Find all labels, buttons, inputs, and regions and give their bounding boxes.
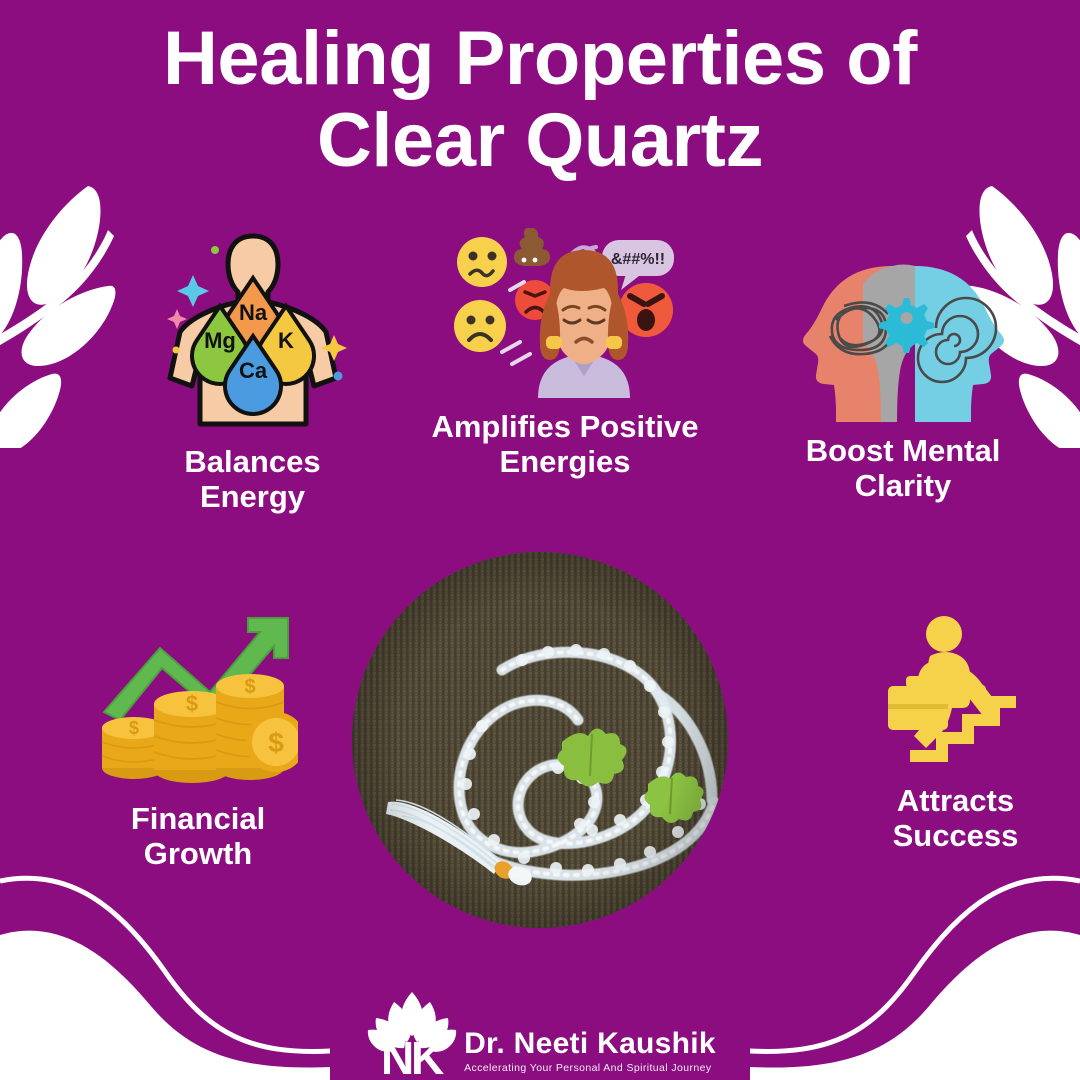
feature-financial-growth: $ $ $ (78, 610, 318, 871)
sad-face-emoji (454, 300, 506, 352)
coin-currency-symbol: $ (129, 718, 139, 738)
briefcase-line (888, 704, 948, 709)
coin-currency-symbol: $ (186, 691, 198, 716)
stressed-woman-icon: &##%!! (420, 228, 710, 403)
feature-amplifies-positive-energies: &##%!! Amplifies Positiv (420, 228, 710, 479)
nk-lotus-logo-icon: N K (364, 986, 460, 1078)
droplet-label-na: Na (238, 300, 267, 325)
page-title: Healing Properties of Clear Quartz (0, 18, 1080, 182)
feature-attracts-success: Attracts Success (848, 612, 1063, 853)
coin-currency-symbol: $ (244, 676, 255, 698)
briefcase-handle-icon (906, 676, 930, 688)
businessman-stairs-icon (848, 612, 1063, 777)
page-title-line-1: Healing Properties of (0, 18, 1080, 100)
coin-stacks-growth-icon: $ $ $ (78, 610, 318, 795)
feature-caption: Boost Mental Clarity (778, 433, 1028, 503)
page-title-line-2: Clear Quartz (0, 100, 1080, 182)
brand-logo: N K Dr. Neeti Kaushik Accelerating Your … (0, 986, 1080, 1078)
feature-caption: Attracts Success (848, 783, 1063, 853)
clear-quartz-mala-photo (352, 552, 728, 928)
feature-balances-energy: Na Mg K Ca Balances Energy (135, 228, 370, 514)
speech-bubble-text: &##%!! (611, 251, 665, 268)
head-icon (926, 616, 962, 652)
droplet-label-mg: Mg (204, 328, 236, 353)
droplet-label-k: K (278, 328, 294, 353)
two-heads-clarity-icon (778, 262, 1028, 427)
logo-tagline: Accelerating Your Personal And Spiritual… (464, 1062, 716, 1074)
feature-caption: Amplifies Positive Energies (420, 409, 710, 479)
feature-caption: Financial Growth (78, 801, 318, 871)
droplet-label-ca: Ca (238, 358, 267, 383)
electrolyte-body-icon: Na Mg K Ca (135, 228, 370, 438)
poop-emoji (514, 228, 550, 266)
confused-face-emoji (457, 237, 507, 287)
coin-currency-symbol: $ (268, 727, 284, 758)
svg-text:N: N (381, 1032, 414, 1078)
feature-boost-mental-clarity: Boost Mental Clarity (778, 262, 1028, 503)
feature-caption: Balances Energy (135, 444, 370, 514)
svg-text:K: K (411, 1032, 444, 1078)
logo-name: Dr. Neeti Kaushik (464, 1029, 716, 1059)
gear-icon (879, 298, 934, 353)
